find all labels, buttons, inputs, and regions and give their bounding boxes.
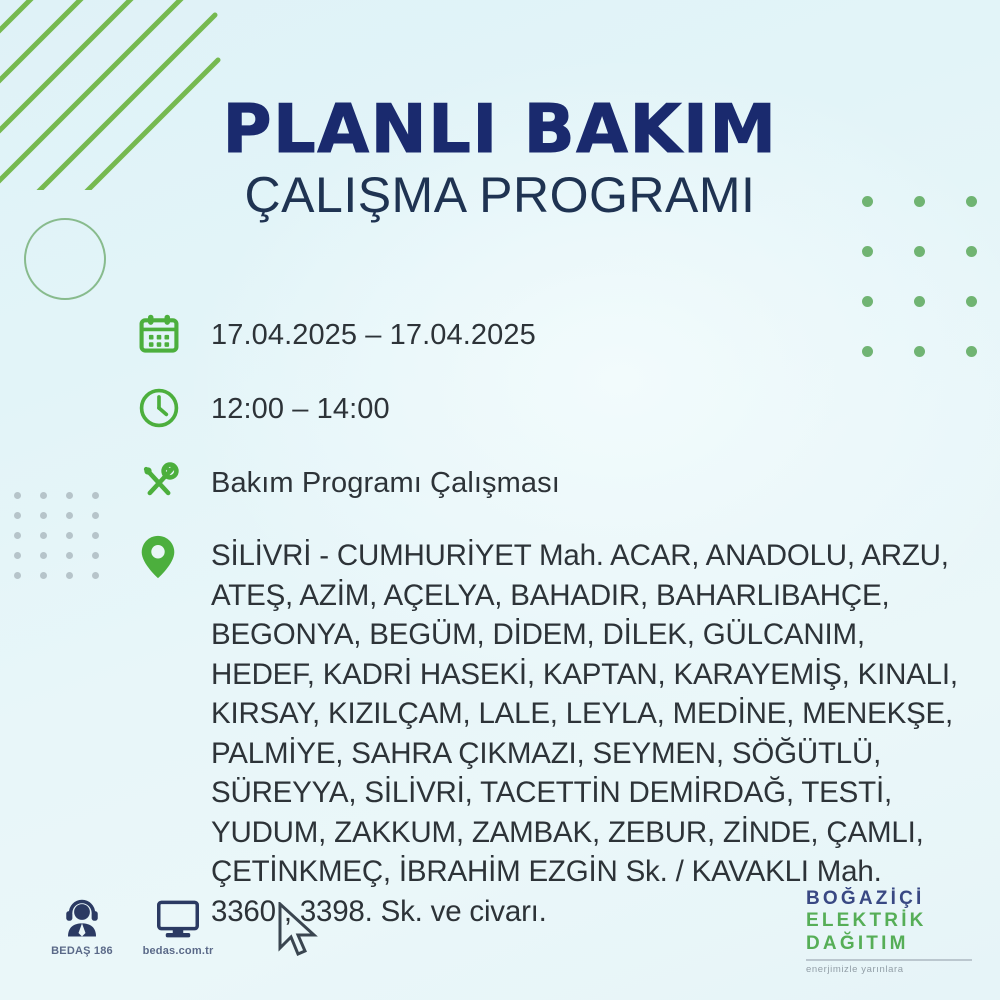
page-title: PLANLI BAKIM [0,96,1000,163]
info-row-time: 12:00 – 14:00 [137,386,977,434]
brand-tagline: enerjimizle yarınlara [806,964,982,975]
work-type-text: Bakım Programı Çalışması [211,460,560,501]
dot-grid-left-decoration [14,492,118,592]
info-row-date: 17.04.2025 – 17.04.2025 [137,312,977,360]
info-row-worktype: Bakım Programı Çalışması [137,460,977,508]
address-text: SİLİVRİ - CUMHURİYET Mah. ACAR, ANADOLU,… [211,534,958,931]
website-label: bedas.com.tr [118,945,238,957]
calendar-icon [137,312,185,360]
poster-title-block: PLANLI BAKIM ÇALIŞMA PROGRAMI [0,96,1000,222]
tools-icon [137,460,185,508]
page-subtitle: ÇALIŞMA PROGRAMI [0,169,1000,222]
clock-icon [137,386,185,434]
location-pin-icon [137,534,185,582]
website-info[interactable]: bedas.com.tr [118,894,238,957]
brand-line-dagitim: DAĞITIM [806,933,982,956]
brand-line-bogazici: BOĞAZİÇİ [806,888,982,910]
brand-divider [806,959,972,961]
circle-decoration [24,218,106,300]
date-range-text: 17.04.2025 – 17.04.2025 [211,312,536,353]
info-rows: 17.04.2025 – 17.04.2025 12:00 – 14:00 [137,312,977,931]
bogazici-elektrik-dagitim-logo: BOĞAZİÇİ ELEKTRİK DAĞITIM enerjimizle ya… [806,888,982,975]
brand-line-elektrik: ELEKTRİK [806,910,982,933]
planned-maintenance-poster: PLANLI BAKIM ÇALIŞMA PROGRAMI [0,0,1000,1000]
time-range-text: 12:00 – 14:00 [211,386,390,427]
monitor-icon [118,894,238,940]
info-row-address: SİLİVRİ - CUMHURİYET Mah. ACAR, ANADOLU,… [137,534,977,931]
